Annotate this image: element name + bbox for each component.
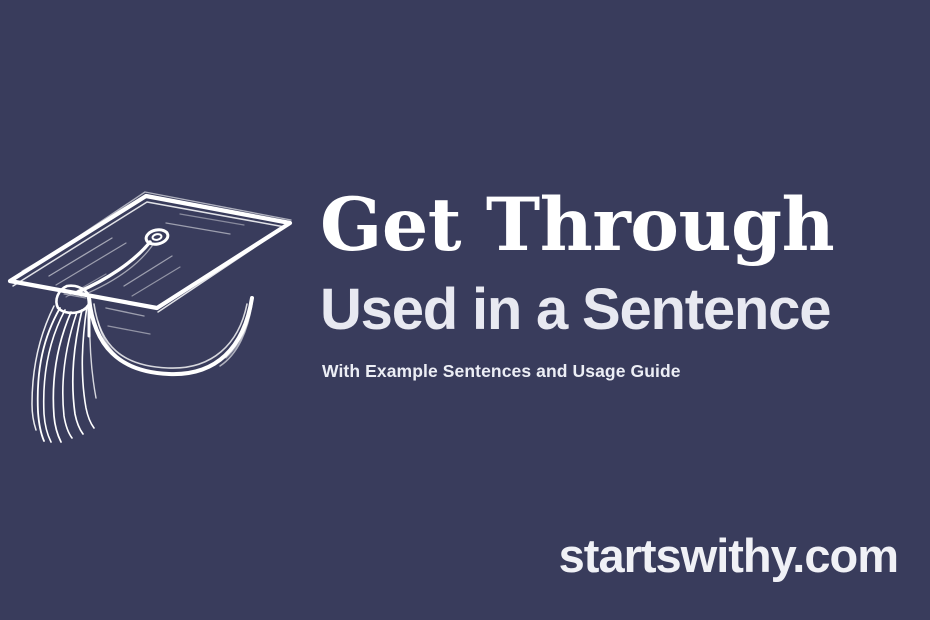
- page-title: Get Through: [320, 186, 920, 264]
- headline-block: Get Through Used in a Sentence With Exam…: [320, 186, 920, 382]
- graduation-cap-icon: [0, 176, 304, 456]
- page-tagline: With Example Sentences and Usage Guide: [322, 360, 920, 382]
- page-subtitle: Used in a Sentence: [320, 278, 920, 342]
- banner-canvas: Get Through Used in a Sentence With Exam…: [0, 0, 930, 620]
- brand-name: startswithy.com: [559, 530, 898, 582]
